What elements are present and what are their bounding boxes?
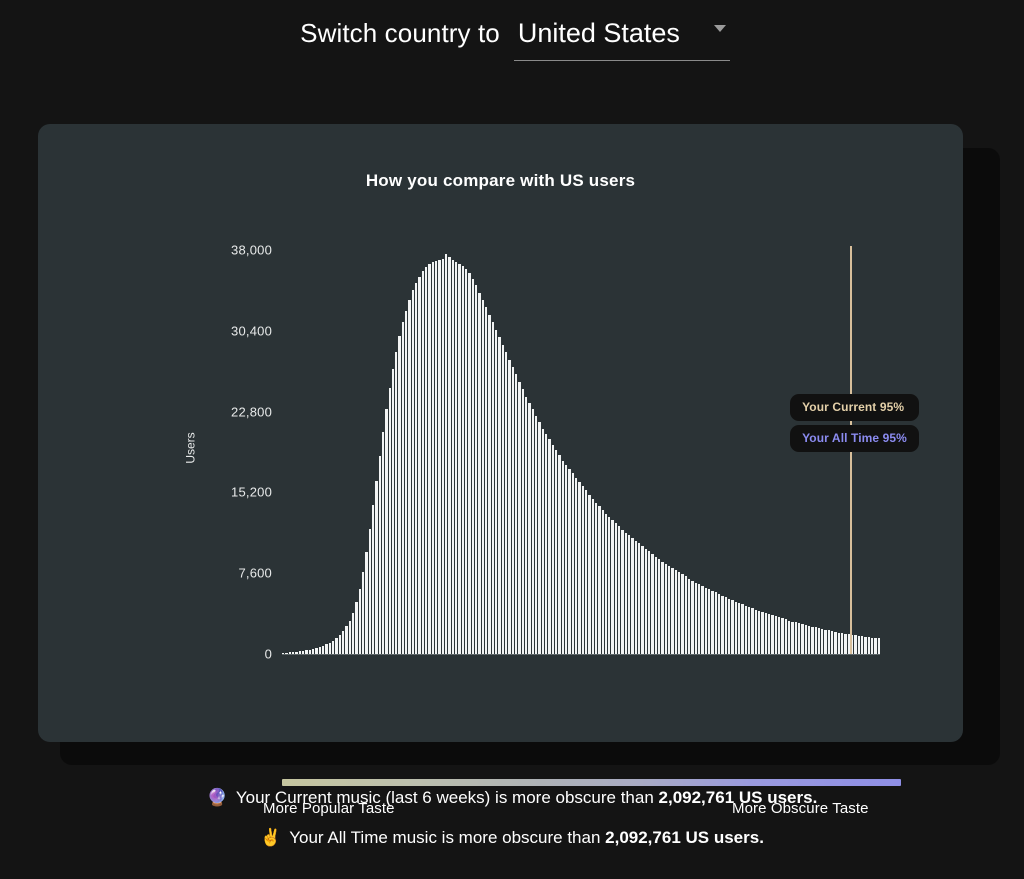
y-tick-label: 7,600 bbox=[238, 566, 272, 581]
histogram-bar bbox=[878, 638, 881, 654]
comparison-card: How you compare with US users Users 07,6… bbox=[38, 124, 963, 742]
chart-title: How you compare with US users bbox=[38, 171, 963, 191]
y-axis-title: Users bbox=[184, 432, 198, 463]
summary-value-current: 2,092,761 US users. bbox=[659, 788, 818, 807]
crystal-ball-emoji: 🔮 bbox=[207, 778, 228, 818]
summary-value-alltime: 2,092,761 US users. bbox=[605, 828, 764, 847]
switch-country-label: Switch country to bbox=[300, 18, 500, 49]
summary-line-alltime: ✌️ Your All Time music is more obscure t… bbox=[0, 818, 1024, 858]
y-tick-label: 0 bbox=[265, 647, 272, 662]
summary-prefix-current: Your Current music (last 6 weeks) is mor… bbox=[236, 788, 659, 807]
summary-text-current: Your Current music (last 6 weeks) is mor… bbox=[236, 778, 817, 818]
summary-line-current: 🔮 Your Current music (last 6 weeks) is m… bbox=[0, 778, 1024, 818]
victory-hand-emoji: ✌️ bbox=[260, 818, 281, 858]
x-axis-baseline bbox=[282, 654, 880, 655]
summary-footer: 🔮 Your Current music (last 6 weeks) is m… bbox=[0, 778, 1024, 858]
y-tick-label: 30,400 bbox=[231, 323, 272, 338]
badge-your-all-time[interactable]: Your All Time 95% bbox=[790, 425, 919, 452]
country-dropdown[interactable]: United States bbox=[514, 18, 730, 61]
country-switcher: Switch country to United States bbox=[300, 18, 730, 61]
summary-prefix-alltime: Your All Time music is more obscure than bbox=[289, 828, 605, 847]
y-tick-label: 38,000 bbox=[231, 243, 272, 258]
y-axis: Users 07,60015,20022,80030,40038,000 bbox=[210, 242, 272, 654]
summary-text-alltime: Your All Time music is more obscure than… bbox=[289, 818, 764, 858]
histogram-plot: Users 07,60015,20022,80030,40038,000 You… bbox=[210, 242, 910, 654]
y-tick-label: 15,200 bbox=[231, 485, 272, 500]
badge-your-current[interactable]: Your Current 95% bbox=[790, 394, 919, 421]
country-dropdown-value: United States bbox=[518, 18, 680, 49]
header-bar: Switch country to United States bbox=[0, 0, 1024, 78]
chevron-down-icon bbox=[714, 25, 726, 32]
percentile-badges: Your Current 95% Your All Time 95% bbox=[790, 394, 919, 456]
y-tick-label: 22,800 bbox=[231, 404, 272, 419]
